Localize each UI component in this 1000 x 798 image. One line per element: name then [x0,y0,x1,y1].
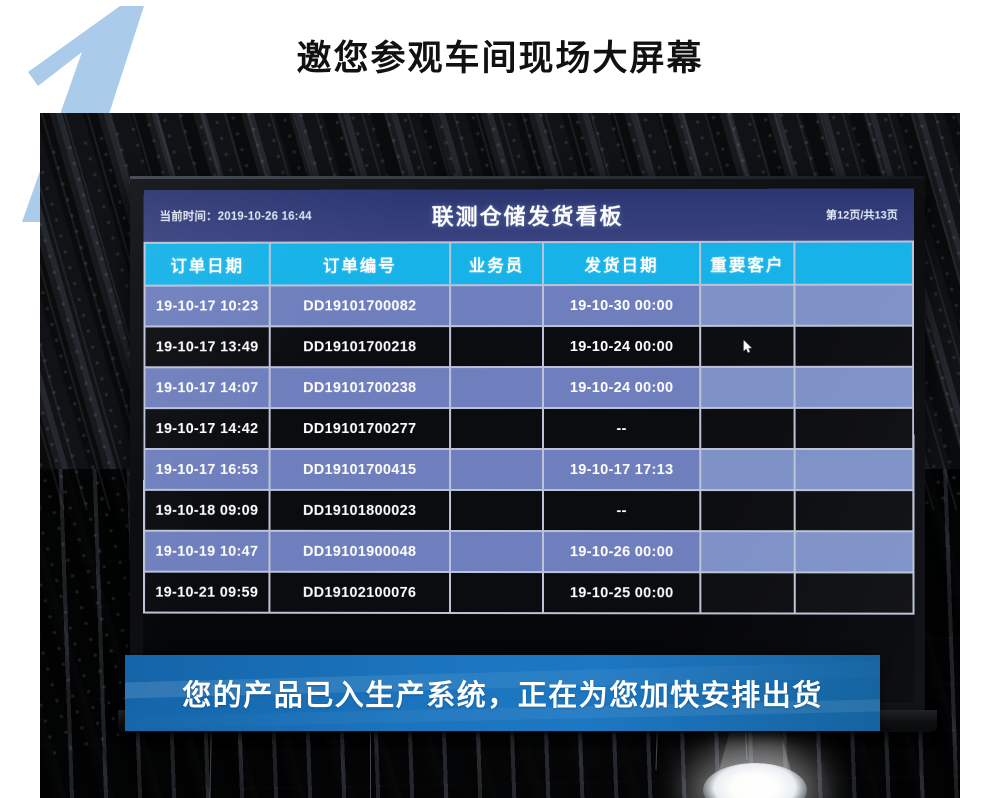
shipment-board-table: 订单日期 订单编号 业务员 发货日期 重要客户 19-10-17 10:23 D… [143,240,915,614]
cell-sales-rep [451,286,542,325]
cell-sales-rep [451,368,542,407]
tv-frame-highlight [130,176,925,179]
cell-extra [796,368,912,407]
table-row: 19-10-17 10:23 DD19101700082 19-10-30 00… [146,286,913,326]
cell-ship-date: 19-10-26 00:00 [544,532,699,571]
cell-sales-rep [451,532,542,571]
cell-ship-date: 19-10-24 00:00 [544,327,699,366]
table-row: 19-10-18 09:09 DD19101800023 -- [145,491,912,530]
cell-sales-rep [451,491,542,530]
column-header-ship-date: 发货日期 [544,243,699,284]
column-header-extra [796,243,912,284]
cell-order-date: 19-10-18 09:09 [145,491,268,530]
cell-sales-rep [451,409,542,448]
cell-extra [796,573,912,612]
marketing-banner: 您的产品已入生产系统，正在为您加快安排出货 [125,655,880,731]
page-indicator: 第12页/共13页 [826,206,898,222]
cell-sales-rep [451,573,542,612]
table-row: 19-10-21 09:59 DD19102100076 19-10-25 00… [145,573,913,613]
cell-key-customer [701,368,794,407]
lamp-bulb [703,763,807,798]
table-body: 19-10-17 10:23 DD19101700082 19-10-30 00… [145,286,913,613]
cell-key-customer [701,409,794,448]
column-header-order-no: 订单编号 [271,243,449,284]
cell-order-date: 19-10-17 10:23 [146,286,269,325]
cell-order-no: DD19101700218 [271,327,449,366]
cell-extra [796,532,912,571]
column-header-order-date: 订单日期 [146,244,269,285]
cell-ship-date: 19-10-17 17:13 [544,450,699,489]
cell-extra [796,450,912,489]
cell-key-customer [701,573,794,612]
cell-sales-rep [451,450,542,489]
cell-order-date: 19-10-17 14:42 [145,409,268,448]
column-header-sales-rep: 业务员 [451,243,542,284]
table-row: 19-10-17 16:53 DD19101700415 19-10-17 17… [145,450,912,489]
cell-extra [796,409,912,448]
cell-key-customer [701,327,794,366]
cell-order-date: 19-10-17 16:53 [145,450,268,489]
cell-order-no: DD19101700277 [271,409,449,448]
cell-order-no: DD19101800023 [271,491,449,530]
table-row: 19-10-19 10:47 DD19101900048 19-10-26 00… [145,532,912,572]
wall-mounted-tv: 当前时间：2019-10-26 16:44 联测仓储发货看板 第12页/共13页… [130,176,925,716]
cell-order-no: DD19101700082 [271,286,449,325]
cell-order-no: DD19102100076 [270,573,448,612]
cell-order-date: 19-10-19 10:47 [145,532,268,571]
cell-ship-date: 19-10-30 00:00 [544,286,699,325]
marketing-banner-text: 您的产品已入生产系统，正在为您加快安排出货 [182,672,823,714]
cell-key-customer [701,532,794,571]
cell-order-no: DD19101700238 [271,368,449,407]
cell-ship-date: -- [544,491,699,530]
cell-key-customer [701,450,794,489]
cell-order-date: 19-10-21 09:59 [145,573,268,612]
table-header-row: 订单日期 订单编号 业务员 发货日期 重要客户 [146,243,912,285]
cell-extra [796,327,912,366]
dashboard-screen: 当前时间：2019-10-26 16:44 联测仓储发货看板 第12页/共13页… [143,188,915,703]
dashboard-title: 联测仓储发货看板 [144,188,914,241]
workshop-photo: 当前时间：2019-10-26 16:44 联测仓储发货看板 第12页/共13页… [40,113,960,798]
cell-extra [796,491,912,530]
cell-key-customer [701,286,794,325]
ceiling-lamp [685,745,825,798]
cell-sales-rep [451,327,542,366]
cell-order-no: DD19101700415 [271,450,449,489]
cell-key-customer [701,491,794,530]
table-row: 19-10-17 13:49 DD19101700218 19-10-24 00… [145,327,912,367]
cell-ship-date: 19-10-24 00:00 [544,368,699,407]
cell-extra [796,286,912,325]
table-row: 19-10-17 14:07 DD19101700238 19-10-24 00… [145,368,912,407]
cell-ship-date: -- [544,409,699,448]
column-header-key-customer: 重要客户 [701,243,794,284]
table-row: 19-10-17 14:42 DD19101700277 -- [145,409,912,448]
cell-order-date: 19-10-17 14:07 [145,368,268,407]
cell-ship-date: 19-10-25 00:00 [544,573,699,612]
dashboard-header: 当前时间：2019-10-26 16:44 联测仓储发货看板 第12页/共13页 [144,188,914,241]
cell-order-date: 19-10-17 13:49 [145,327,268,366]
cell-order-no: DD19101900048 [271,532,449,571]
page-title: 邀您参观车间现场大屏幕 [0,30,1000,81]
